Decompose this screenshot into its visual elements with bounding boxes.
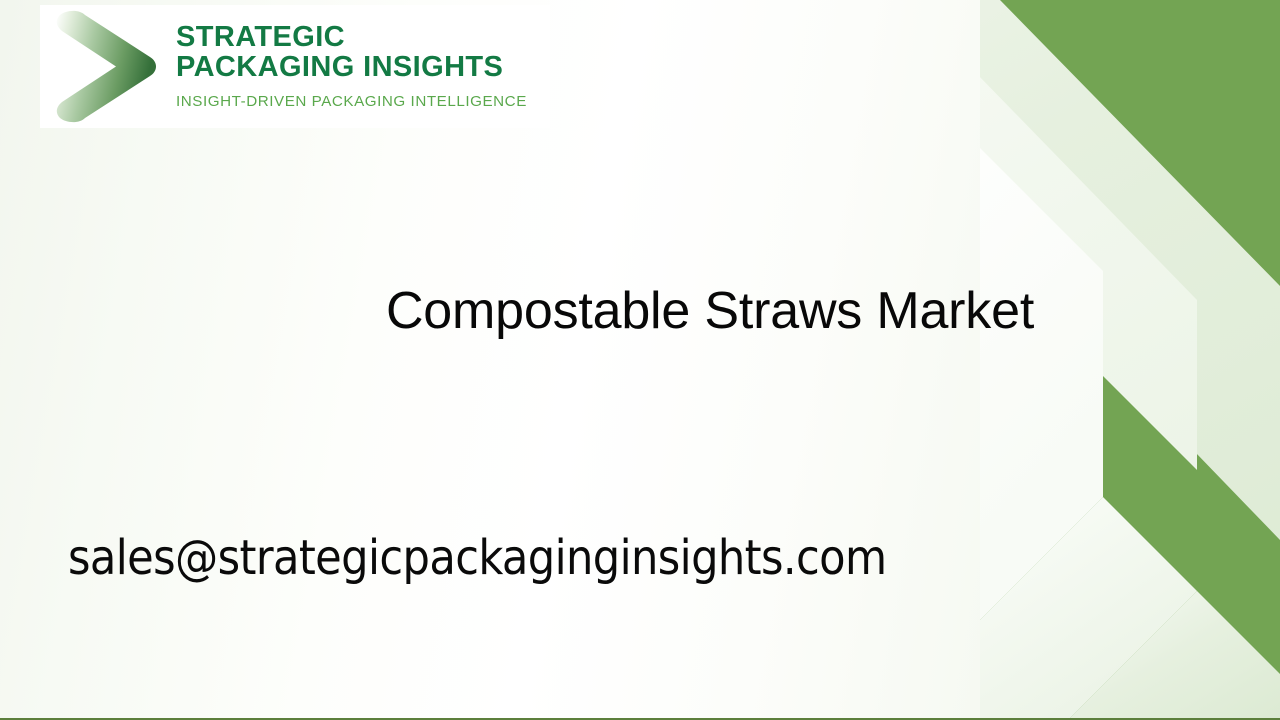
logo-line-2: PACKAGING INSIGHTS	[176, 53, 527, 83]
chevron-right-icon	[46, 9, 164, 124]
brand-logo[interactable]: STRATEGIC PACKAGING INSIGHTS INSIGHT-DRI…	[40, 5, 550, 128]
logo-line-1: STRATEGIC	[176, 23, 527, 53]
logo-tagline: INSIGHT-DRIVEN PACKAGING INTELLIGENCE	[176, 93, 527, 110]
slide-canvas: STRATEGIC PACKAGING INSIGHTS INSIGHT-DRI…	[0, 0, 1280, 720]
logo-wordmark: STRATEGIC PACKAGING INSIGHTS INSIGHT-DRI…	[176, 23, 527, 111]
contact-email[interactable]: sales@strategicpackaginginsights.com	[68, 532, 886, 585]
slide-title: Compostable Straws Market	[330, 285, 1090, 337]
